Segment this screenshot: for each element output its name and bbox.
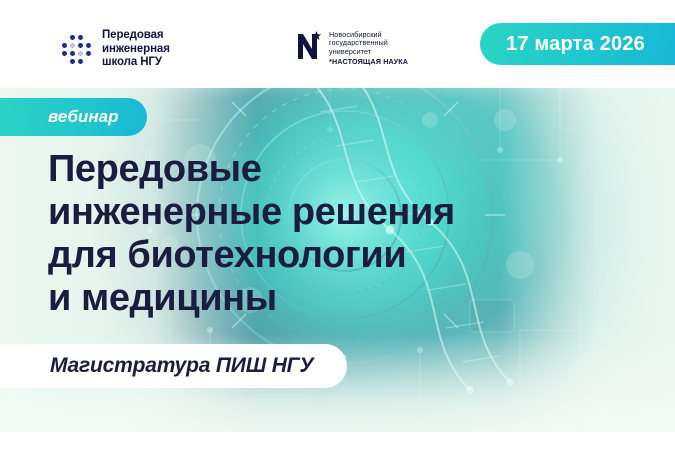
- nsu-logo-text: Новосибирский государственный университе…: [329, 30, 408, 67]
- pish-logo: Передовая инженерная школа НГУ: [62, 29, 170, 70]
- header-bar: Передовая инженерная школа НГУ Новосибир…: [0, 0, 675, 88]
- page-title-line3: для биотехнологии: [48, 234, 568, 277]
- webinar-type-badge: вебинар: [0, 98, 147, 136]
- footer-strip: [0, 432, 675, 450]
- dot-grid-logo-icon: [62, 35, 91, 64]
- pish-logo-line2: инженерная: [102, 43, 170, 57]
- page-title-line1: Передовые: [48, 148, 568, 191]
- pish-logo-line3: школа НГУ: [102, 56, 170, 70]
- webinar-poster: Передовая инженерная школа НГУ Новосибир…: [0, 0, 675, 450]
- program-badge-label: Магистратура ПИШ НГУ: [50, 354, 313, 378]
- page-title-line4: и медицины: [48, 277, 568, 320]
- page-title-line2: инженерные решения: [48, 191, 568, 234]
- nsu-logo: Новосибирский государственный университе…: [296, 30, 408, 67]
- nsu-logo-line3: университет: [329, 48, 408, 56]
- pish-logo-line1: Передовая: [102, 29, 170, 43]
- nsu-logo-tagline: *НАСТОЯЩАЯ НАУКА: [329, 58, 408, 66]
- page-title: Передовые инженерные решения для биотехн…: [48, 148, 568, 320]
- pish-logo-text: Передовая инженерная школа НГУ: [102, 29, 170, 70]
- event-date-badge: 17 марта 2026: [480, 23, 675, 65]
- program-badge: Магистратура ПИШ НГУ: [0, 344, 347, 388]
- nsu-n-star-mark-icon: [296, 30, 322, 60]
